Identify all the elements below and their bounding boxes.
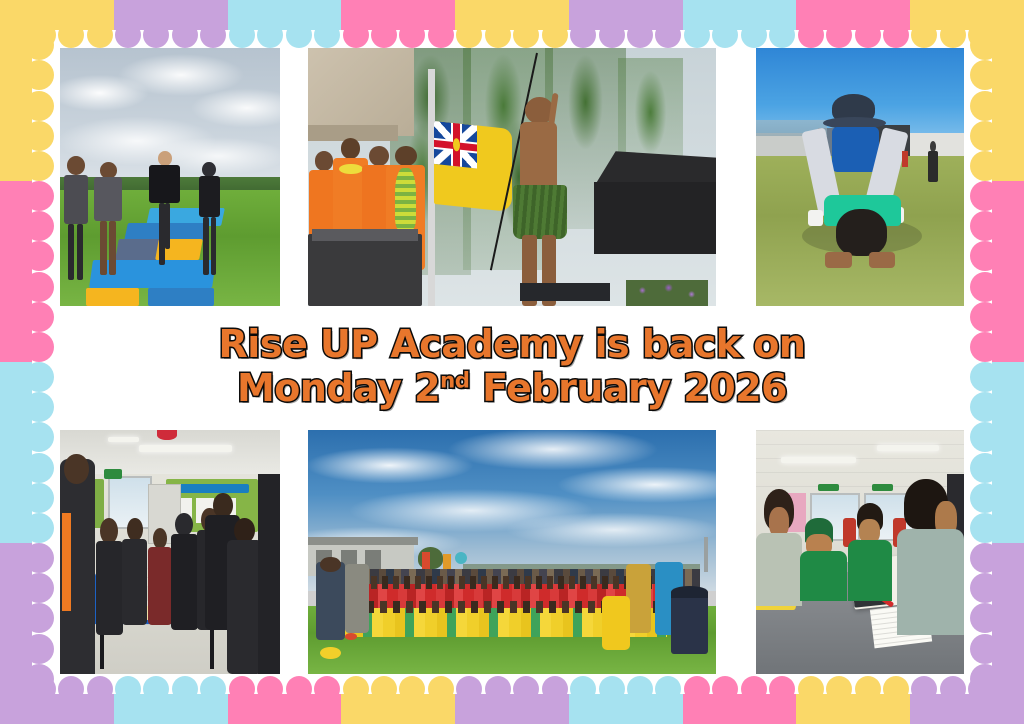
headline-line-1-text: Rise UP Academy is back on <box>219 322 806 366</box>
border-scallop-block <box>968 543 1024 724</box>
scallop-block-body <box>341 694 455 724</box>
scallop-block-body <box>114 0 228 30</box>
scallop-bumps <box>24 543 56 724</box>
scallop-block-body <box>569 694 683 724</box>
photo-cultural-performance <box>308 48 716 306</box>
headline-line-2-text: Monday 2nd February 2026 <box>237 366 787 410</box>
scallop-block-body <box>0 694 114 724</box>
border-scallop-block <box>455 670 569 724</box>
border-scallop-block <box>968 0 1024 181</box>
scallop-block-body <box>341 0 455 30</box>
headline-date-prefix: Monday 2 <box>237 366 440 410</box>
scallop-bumps <box>968 0 1000 181</box>
border-strip-bottom <box>0 670 1024 724</box>
headline-ordinal-suffix: nd <box>440 368 469 393</box>
headline-line-2: Monday 2nd February 2026 <box>0 366 1024 410</box>
scallop-block-body <box>683 0 797 30</box>
poster-headline: Rise UP Academy is back on Monday 2nd Fe… <box>0 322 1024 410</box>
scallop-block-body <box>228 694 342 724</box>
scallop-block-body <box>0 0 114 30</box>
scallop-block-body <box>114 694 228 724</box>
scallop-block-body <box>0 543 32 724</box>
scallop-block-body <box>0 0 32 181</box>
headline-date-suffix: February 2026 <box>469 366 787 410</box>
scallop-block-body <box>455 0 569 30</box>
photo-classroom-activity <box>60 430 280 674</box>
photo-leapfrog <box>756 48 964 306</box>
scallop-block-body <box>796 694 910 724</box>
scallop-block-body <box>455 694 569 724</box>
border-scallop-block <box>683 670 797 724</box>
scallop-block-body <box>992 0 1024 181</box>
border-scallop-block <box>341 670 455 724</box>
border-scallop-block <box>569 670 683 724</box>
photo-reading-group <box>756 430 964 674</box>
border-scallop-block <box>796 670 910 724</box>
scallop-block-body <box>796 0 910 30</box>
headline-line-1: Rise UP Academy is back on <box>0 322 1024 366</box>
border-scallop-block <box>228 670 342 724</box>
scallop-bumps <box>968 543 1000 724</box>
border-scallop-block <box>0 670 114 724</box>
scallop-block-body <box>992 543 1024 724</box>
scallop-block-body <box>910 694 1024 724</box>
scallop-block-body <box>569 0 683 30</box>
poster-canvas: Rise UP Academy is back on Monday 2nd Fe… <box>0 0 1024 724</box>
photo-gymnastics-mats <box>60 48 280 306</box>
scallop-block-body <box>683 694 797 724</box>
border-scallop-block <box>910 670 1024 724</box>
scallop-block-body <box>910 0 1024 30</box>
scallop-bumps <box>24 0 56 181</box>
photo-group-photo <box>308 430 716 674</box>
border-scallop-block <box>0 0 56 181</box>
scallop-block-body <box>228 0 342 30</box>
border-scallop-block <box>0 543 56 724</box>
border-scallop-block <box>114 670 228 724</box>
